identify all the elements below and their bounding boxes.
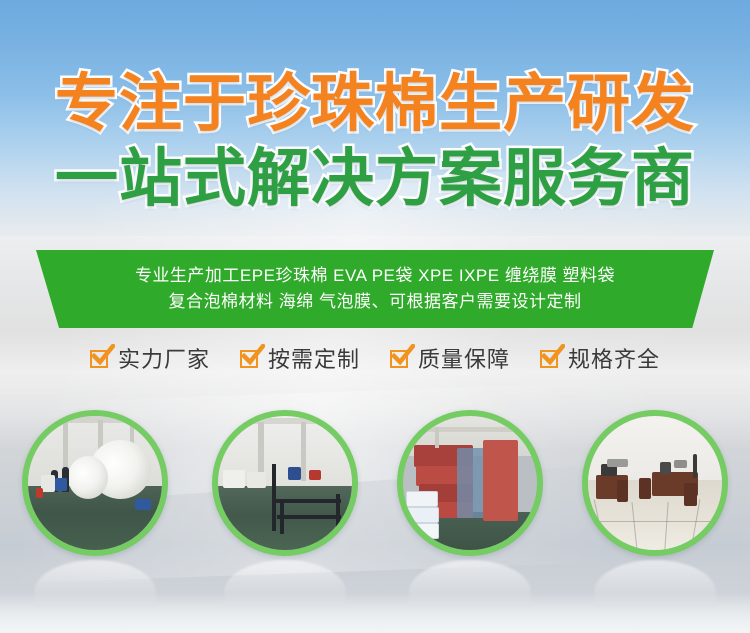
feature-item-3: 质量保障 xyxy=(390,342,510,374)
checkbox-checked-icon xyxy=(540,348,560,368)
green-info-band: 专业生产加工EPE珍珠棉 EVA PE袋 XPE IXPE 缠绕膜 塑料袋 复合… xyxy=(36,250,714,328)
photo-reflection xyxy=(34,560,156,606)
photo-reflection xyxy=(594,560,716,606)
checkbox-checked-icon xyxy=(240,348,260,368)
photo-circle-2[interactable] xyxy=(212,410,358,556)
photo-workshop-floor[interactable] xyxy=(212,410,358,556)
photo-circle-3[interactable] xyxy=(397,410,543,556)
photo-production-rolls[interactable] xyxy=(22,410,168,556)
headline-block: 专注于珍珠棉生产研发 一站式解决方案服务商 xyxy=(0,72,750,210)
photo-circle-row xyxy=(0,410,750,570)
checkbox-checked-icon xyxy=(390,348,410,368)
feature-label: 质量保障 xyxy=(418,342,510,374)
green-band-text: 专业生产加工EPE珍珠棉 EVA PE袋 XPE IXPE 缠绕膜 塑料袋 复合… xyxy=(36,250,714,328)
photo-circle-4[interactable] xyxy=(582,410,728,556)
feature-item-2: 按需定制 xyxy=(240,342,360,374)
photo-circle-1[interactable] xyxy=(22,410,168,556)
photo-warehouse-stock[interactable] xyxy=(397,410,543,556)
feature-item-4: 规格齐全 xyxy=(540,342,660,374)
photo-office[interactable] xyxy=(582,410,728,556)
green-band-line-1: 专业生产加工EPE珍珠棉 EVA PE袋 XPE IXPE 缠绕膜 塑料袋 xyxy=(135,263,615,289)
feature-list: 实力厂家 按需定制 质量保障 xyxy=(0,340,750,376)
photo-reflection xyxy=(224,560,346,606)
feature-label: 规格齐全 xyxy=(568,342,660,374)
feature-label: 按需定制 xyxy=(268,342,360,374)
feature-item-1: 实力厂家 xyxy=(90,342,210,374)
promo-banner: 专注于珍珠棉生产研发 一站式解决方案服务商 专业生产加工EPE珍珠棉 EVA P… xyxy=(0,0,750,633)
checkbox-checked-icon xyxy=(90,348,110,368)
green-band-line-2: 复合泡棉材料 海绵 气泡膜、可根据客户需要设计定制 xyxy=(169,289,582,315)
headline-line-1: 专注于珍珠棉生产研发 xyxy=(0,72,750,135)
feature-label: 实力厂家 xyxy=(118,342,210,374)
photo-reflection xyxy=(409,560,531,606)
headline-line-2: 一站式解决方案服务商 xyxy=(0,147,750,210)
